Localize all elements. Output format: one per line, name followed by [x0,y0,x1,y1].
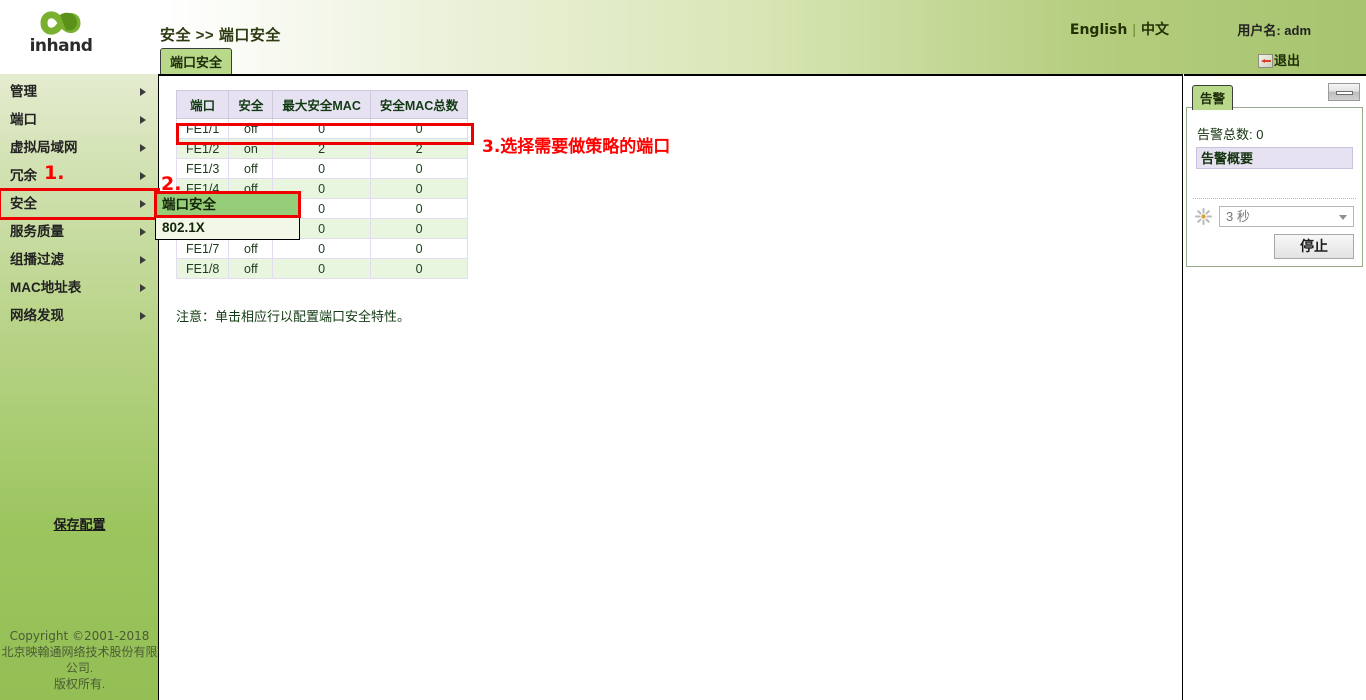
table-header-row: 端口 安全 最大安全MAC 安全MAC总数 [177,91,468,119]
annotation-step-1: 1. [44,162,64,184]
submenu-item-8021x[interactable]: 802.1X [156,216,299,239]
logout-label: 退出 [1274,53,1300,68]
chevron-right-icon [140,284,146,292]
submenu-item-port-security[interactable]: 端口安全 [156,193,299,216]
column-header-security: 安全 [229,91,273,119]
lang-divider: | [1132,21,1136,37]
sidebar-item-label: 服务质量 [10,224,64,239]
annotation-step-3: 3.选择需要做策略的端口 [482,132,670,157]
sidebar-item-label: MAC地址表 [10,280,81,295]
refresh-interval-select[interactable]: 3 秒 [1219,206,1354,227]
sidebar-item-mac-table[interactable]: MAC地址表 [0,274,158,302]
copyright-line-2: 北京映翰通网络技术股份有限公司. [0,644,159,676]
sidebar-item-label: 冗余 [10,168,37,183]
port-security-table: 端口 安全 最大安全MAC 安全MAC总数 FE1/1 off 0 0 FE1/… [176,90,468,279]
cell-security: off [229,159,273,179]
cell-security: off [229,239,273,259]
refresh-spinner-icon [1195,208,1212,225]
tab-port-security[interactable]: 端口安全 [160,48,232,74]
table-note: 注意：单击相应行以配置端口安全特性。 [176,306,410,325]
brand-logo: inhand [18,6,102,62]
sidebar-item-redundancy[interactable]: 冗余 [0,162,158,190]
cell-total-mac: 0 [370,219,467,239]
sidebar-item-label: 端口 [10,112,37,127]
logout-icon [1258,54,1273,68]
security-submenu: 端口安全 802.1X [155,192,300,240]
cell-port: FE1/8 [177,259,229,279]
alarm-tabbar: 告警 [1192,85,1233,107]
stop-button[interactable]: 停止 [1274,234,1354,259]
cell-total-mac: 0 [370,159,467,179]
cell-security: off [229,119,273,139]
refresh-controls: 3 秒 [1195,206,1354,228]
cell-total-mac: 0 [370,199,467,219]
table-row-selected[interactable]: FE1/2 on 2 2 [177,139,468,159]
table-row[interactable]: FE1/1 off 0 0 [177,119,468,139]
copyright-line-3: 版权所有. [0,676,159,692]
cell-port: FE1/3 [177,159,229,179]
chevron-right-icon [140,144,146,152]
refresh-interval-value: 3 秒 [1226,209,1250,224]
column-header-max-mac: 最大安全MAC [273,91,370,119]
cell-total-mac: 2 [370,139,467,159]
sidebar-item-security[interactable]: 安全 [0,190,158,218]
cell-max-mac: 0 [273,239,370,259]
sidebar-item-label: 组播过滤 [10,252,64,267]
column-header-total-mac: 安全MAC总数 [370,91,467,119]
sidebar-item-port[interactable]: 端口 [0,106,158,134]
cell-total-mac: 0 [370,259,467,279]
annotation-step-2: 2. [161,173,181,195]
chevron-right-icon [140,88,146,96]
chevron-right-icon [140,172,146,180]
table-row[interactable]: FE1/3 off 0 0 [177,159,468,179]
sidebar-item-vlan[interactable]: 虚拟局域网 [0,134,158,162]
cell-total-mac: 0 [370,239,467,259]
table-row[interactable]: FE1/7 off 0 0 [177,239,468,259]
minimize-bar [1336,91,1353,95]
logout-link[interactable]: 退出 [1258,50,1300,69]
sidebar-item-label: 虚拟局域网 [10,140,78,155]
cell-security: on [229,139,273,159]
minimize-icon[interactable] [1328,83,1360,101]
cell-max-mac: 0 [273,159,370,179]
cell-security: off [229,259,273,279]
cell-port: FE1/2 [177,139,229,159]
logo-wordmark: inhand [26,36,96,56]
username-label: 用户名: adm [1237,20,1311,39]
sidebar-item-label: 网络发现 [10,308,64,323]
app-header: inhand 安全 >> 端口安全 端口安全 English|中文 用户名: a… [0,0,1366,74]
alarm-panel: 告警 告警总数: 0 告警概要 [1184,74,1366,700]
copyright-block: Copyright ©2001-2018 北京映翰通网络技术股份有限公司. 版权… [0,628,159,692]
chevron-right-icon [140,256,146,264]
divider [1193,198,1356,199]
breadcrumb: 安全 >> 端口安全 [160,24,281,45]
column-header-port: 端口 [177,91,229,119]
cell-max-mac: 0 [273,119,370,139]
cell-total-mac: 0 [370,119,467,139]
sidebar: 管理 端口 虚拟局域网 冗余 安全 服务质量 组播过滤 MAC地址表 [0,74,159,700]
copyright-line-1: Copyright ©2001-2018 [0,628,159,644]
sidebar-item-network-discovery[interactable]: 网络发现 [0,302,158,330]
alarm-summary-link[interactable]: 告警概要 [1196,147,1353,169]
alarm-total-label: 告警总数: 0 [1197,124,1263,143]
main-content: 端口 安全 最大安全MAC 安全MAC总数 FE1/1 off 0 0 FE1/… [159,74,1183,700]
sidebar-item-label: 管理 [10,84,37,99]
cell-max-mac: 2 [273,139,370,159]
table-row[interactable]: FE1/8 off 0 0 [177,259,468,279]
cell-port: FE1/1 [177,119,229,139]
save-config-link[interactable]: 保存配置 [0,514,159,533]
chevron-right-icon [140,116,146,124]
cell-total-mac: 0 [370,179,467,199]
sidebar-item-label: 安全 [10,196,37,211]
content-tabbar: 端口安全 [160,48,232,74]
chevron-right-icon [140,312,146,320]
language-switcher: English|中文 [1070,19,1169,39]
cell-port: FE1/7 [177,239,229,259]
sidebar-item-management[interactable]: 管理 [0,78,158,106]
cell-max-mac: 0 [273,259,370,279]
sidebar-item-qos[interactable]: 服务质量 [0,218,158,246]
lang-chinese-link[interactable]: 中文 [1141,21,1169,37]
sidebar-item-multicast-filter[interactable]: 组播过滤 [0,246,158,274]
chevron-right-icon [140,228,146,236]
chevron-down-icon [1339,215,1347,220]
tab-alarm[interactable]: 告警 [1192,85,1233,110]
chevron-right-icon [140,200,146,208]
lang-english-link[interactable]: English [1070,22,1127,38]
alarm-body: 告警总数: 0 告警概要 [1186,107,1363,267]
